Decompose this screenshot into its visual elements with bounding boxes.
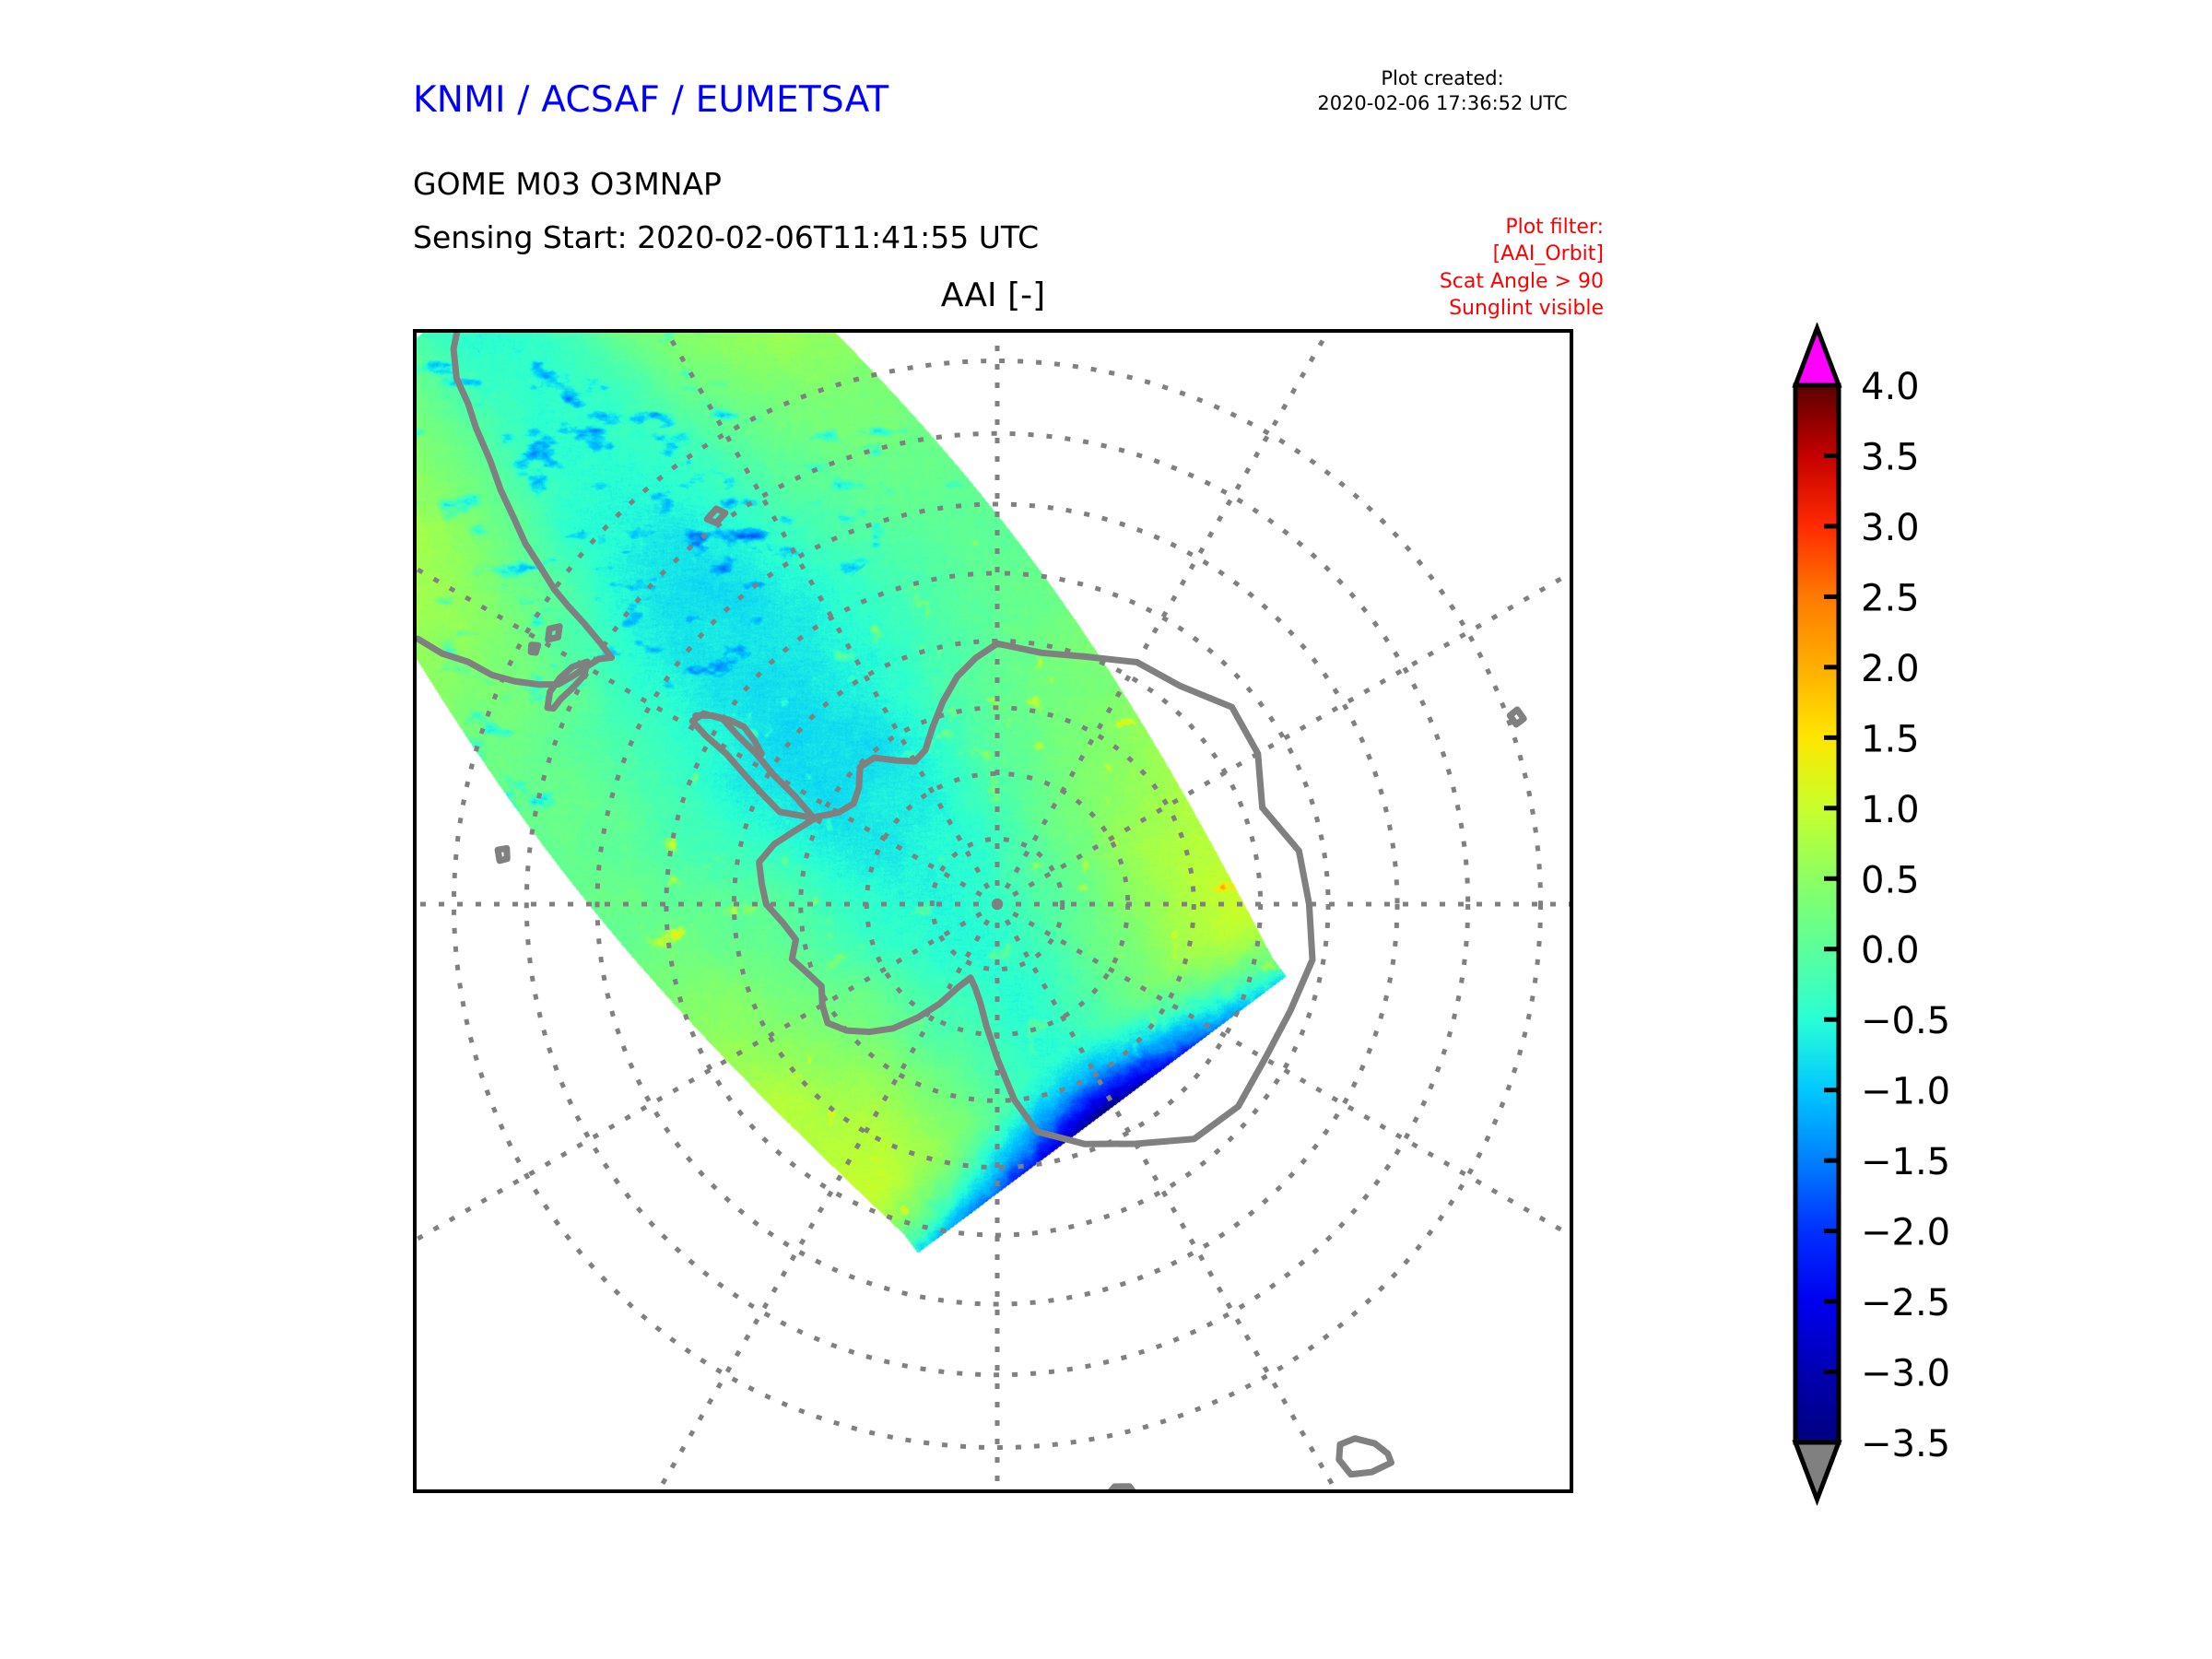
colorbar-tick-label: 4.0 [1861,366,1920,408]
colorbar-tick-label: −2.5 [1861,1282,1950,1324]
coastline-path [498,848,507,860]
colorbar-tick-label: −0.5 [1861,1000,1950,1042]
colorbar-tick-label: 3.0 [1861,507,1920,549]
coastline-path [692,643,1312,1144]
colorbar-under-arrow [1795,1442,1839,1500]
coastline-path [1510,710,1524,724]
colorbar-tick-label: 2.0 [1861,648,1920,690]
coastline-path [1339,1439,1392,1475]
colorbar-tick-label: 0.0 [1861,930,1920,972]
sensing-start-label: Sensing Start: 2020-02-06T11:41:55 UTC [413,219,1039,255]
coastline-path [531,645,538,653]
plot-filter-line: Plot filter: [1364,214,1604,241]
colorbar-tick-label: 1.5 [1861,718,1920,760]
plot-created-timestamp: 2020-02-06 17:36:52 UTC [1290,91,1594,116]
coastline-path [548,627,560,640]
plot-filter-line: [AAI_Orbit] [1364,241,1604,267]
coastline-path [1062,1487,1139,1489]
meridian-line [633,904,997,1489]
plot-created-block: Plot created: 2020-02-06 17:36:52 UTC [1290,66,1594,116]
plot-filter-line: Sunglint visible [1364,295,1604,322]
colorbar[interactable]: 4.03.53.02.52.01.51.00.50.0−0.5−1.0−1.5−… [1788,323,2175,1512]
meridian-line [997,540,1570,904]
meridian-line [997,904,1361,1489]
coastline-path [453,333,611,657]
meridian-line [997,333,1361,904]
map-plot-area[interactable] [413,329,1573,1493]
coastline-path [707,509,725,523]
map-overlay [417,333,1570,1489]
meridian-line [417,904,997,1268]
plot-filter-block: Plot filter: [AAI_Orbit] Scat Angle > 90… [1364,214,1604,322]
organization-title: KNMI / ACSAF / EUMETSAT [413,79,888,121]
colorbar-tick-label: −3.5 [1861,1423,1950,1465]
colorbar-tick-label: −3.0 [1861,1353,1950,1395]
colorbar-tick-label: 3.5 [1861,436,1920,478]
colorbar-tick-label: 0.5 [1861,859,1920,901]
colorbar-tick-label: −2.0 [1861,1212,1950,1254]
colorbar-gradient [1795,385,1839,1442]
meridian-line [997,904,1570,1268]
colorbar-tick-label: 1.0 [1861,789,1920,831]
product-title: GOME M03 O3MNAP [413,166,722,202]
graticule [417,333,1570,1489]
colorbar-over-arrow [1795,328,1839,385]
colorbar-tick-label: 2.5 [1861,577,1920,619]
colorbar-tick-label: −1.5 [1861,1141,1950,1183]
colorbar-tick-label: −1.0 [1861,1071,1950,1113]
plot-created-label: Plot created: [1290,66,1594,91]
plot-filter-line: Scat Angle > 90 [1364,268,1604,295]
